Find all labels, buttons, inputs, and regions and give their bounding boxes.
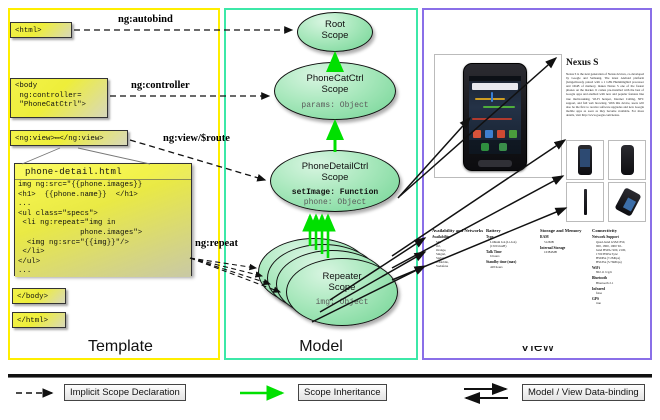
code-ngview-tag: <ng:view>▭</ng:view> [10,130,128,146]
scope-root-line1: Root [298,19,372,30]
thumbnail-phone-side [584,189,587,215]
code-html-open: <html> [10,22,72,38]
panel-model-label: Model [226,338,416,356]
scope-repeater-stack: Repeater Scope img: Object [258,238,400,334]
phone-detail-code: img ng:src="{{phone.images}} <h1> {{phon… [15,179,191,277]
phone-decor-line-4 [491,92,493,102]
spec-column-storage: Storage and Memory RAM 512MB Internal St… [540,228,592,254]
phone-decor-line-3 [472,118,512,120]
spec-value-infrared-0: false [596,291,648,295]
phone-illustration [463,63,527,171]
label-ng-repeat: ng:repeat [195,238,238,249]
scope-repeater: Repeater Scope img: Object [286,258,398,326]
phone-app-icon-3 [497,130,505,138]
scope-repeater-line2: Scope [287,282,397,293]
phone-thumbnail-3[interactable] [566,182,604,222]
product-title: Nexus S [566,58,644,68]
spec-value-network-5: HSUPA (5.76Mbps) [596,260,648,264]
legend: Implicit Scope Declaration Scope Inherit… [0,382,660,416]
phone-app-icon-2 [485,130,493,138]
phone-thumbnail-4[interactable] [608,182,646,222]
scope-phonedetailctrl: PhoneDetailCtrl Scope setImage: Function… [270,150,400,212]
label-ng-autobind: ng:autobind [118,14,173,25]
spec-value-bluetooth-0: Bluetooth 2.1 [596,281,648,285]
scope-phonecatctrl: PhoneCatCtrl Scope params: Object [274,62,396,120]
scope-root-line2: Scope [298,30,372,41]
scope-phonecatctrl-line1: PhoneCatCtrl [275,73,395,84]
thumbnail-phone-back [621,145,634,175]
spec-value-battery-talktime-0: 6 hours [490,254,538,258]
phone-app-icon-4 [509,130,517,138]
legend-divider [8,374,652,378]
scope-root: Root Scope [297,12,373,52]
scope-phonecatctrl-prop-params: params: Object [275,101,395,111]
phone-search-widget [472,83,518,90]
spec-column-battery: Battery Type Lithium Ion (Li-Ion) (1500 … [486,228,538,269]
spec-value-wifi-0: 802.11 b/g/n [596,270,648,274]
label-ng-view-route: ng:view/$route [163,133,230,144]
legend-item-data-binding: Model / View Data-binding [462,382,520,406]
spec-value-battery-type-1: (1500 mAH) [490,244,538,248]
spec-column-availability: Availability and Networks Availability M… [432,228,484,268]
legend-item-scope-inheritance: Scope Inheritance [238,382,296,406]
spec-value-ram-0: 512MB [544,240,592,244]
phone-decor-line-1 [475,98,505,100]
legend-label-data-binding: Model / View Data-binding [522,384,645,401]
label-ng-controller: ng:controller [131,80,190,91]
phone-dock [469,140,521,154]
scope-repeater-prop-img: img: Object [287,298,397,308]
spec-value-battery-standby-0: 428 hours [490,265,538,269]
legend-green-arrow-icon [238,382,296,404]
diagram-canvas: Template <html> <body ng:controller= "Ph… [0,0,660,420]
spec-header-availability: Availability and Networks [432,228,484,233]
rendered-view-page: Nexus S Nexus S is the next generation o… [428,16,646,346]
phone-app-icon-1 [473,130,481,138]
spec-value-gps-0: true [596,301,648,305]
thumbnail-screen-1 [580,149,590,167]
legend-item-implicit-scope: Implicit Scope Declaration [14,382,62,406]
phone-main-image [434,54,562,178]
phone-screen [469,76,521,154]
scope-repeater-line1: Repeater [287,271,397,282]
legend-label-implicit-scope: Implicit Scope Declaration [64,384,186,401]
code-phone-detail-note: phone-detail.html img ng:src="{{phone.im… [14,163,192,276]
scope-phonedetailctrl-prop-setimage: setImage: Function [271,188,399,198]
code-body-open: <body ng:controller= "PhoneCatCtrl"> [10,78,108,118]
spec-value-availability-6: Vodafone [436,264,484,268]
phone-home-button [478,160,512,167]
phone-dock-icon-2 [499,143,507,151]
legend-label-scope-inheritance: Scope Inheritance [298,384,387,401]
phone-dock-icon-1 [481,143,489,151]
phone-decor-line-2 [483,106,515,108]
spec-value-internal-storage-0: 16384MB [544,250,592,254]
spec-header-connectivity: Connectivity [592,228,648,233]
spec-header-battery: Battery [486,228,538,233]
scope-phonedetailctrl-prop-phone: phone: Object [271,198,399,208]
legend-double-arrow-icon [462,382,520,406]
product-description: Nexus S is the next generation of Nexus … [566,72,644,134]
spec-header-storage: Storage and Memory [540,228,592,233]
specs-table: Availability and Networks Availability M… [432,228,644,308]
scope-phonecatctrl-line2: Scope [275,84,395,95]
legend-dashed-arrow-icon [14,382,62,404]
phone-thumbnail-2[interactable] [608,140,646,180]
code-body-close: </body> [12,288,66,304]
phone-status-bar [469,76,521,81]
scope-phonedetailctrl-line1: PhoneDetailCtrl [271,161,399,172]
phone-thumbnail-1[interactable] [566,140,604,180]
code-html-close: </html> [12,312,66,328]
spec-column-connectivity: Connectivity Network Support Quad-band G… [592,228,648,305]
scope-phonedetailctrl-line2: Scope [271,172,399,183]
phone-detail-filename: phone-detail.html [15,164,191,179]
